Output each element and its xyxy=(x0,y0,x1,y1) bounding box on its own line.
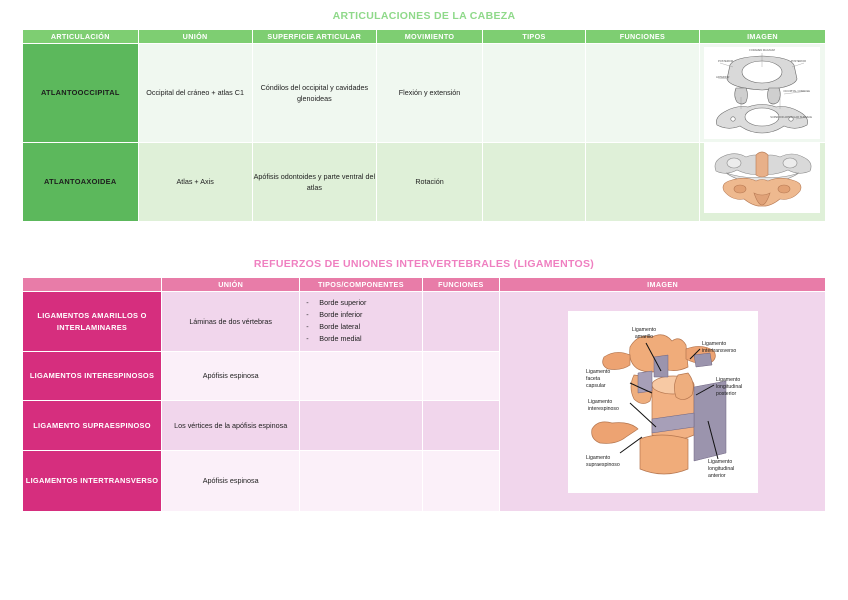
table2-row0-union: Láminas de dos vértebras xyxy=(162,292,299,351)
atlas-axis-illustration xyxy=(704,143,820,213)
bullet-dash: - xyxy=(306,333,311,345)
table1-col-imagen: IMAGEN xyxy=(700,30,825,43)
label-posterior-left: POSTERIOR xyxy=(718,59,733,63)
document-page: ARTICULACIONES DE LA CABEZA ARTICULACIÓN… xyxy=(0,0,848,600)
list-item: -Borde inferior xyxy=(306,309,421,321)
table2-col-blank xyxy=(23,278,161,291)
bullet-dash: - xyxy=(306,309,311,321)
label-posterior-right: POSTERIOR xyxy=(791,59,806,63)
list-item: -Borde superior xyxy=(306,297,421,309)
skull-atlas-svg: FORAMEN MAGNUM POSTERIOR POSTERIOR ANTER… xyxy=(704,47,820,139)
tipos-bullet-list: -Borde superior -Borde inferior -Borde l… xyxy=(300,297,421,345)
table1-col-funciones: FUNCIONES xyxy=(586,30,699,43)
label-foramen-magnum: FORAMEN MAGNUM xyxy=(750,48,776,52)
label-ligamento-amarillo: Ligamentoamarillo xyxy=(631,327,655,340)
table2-row3-label: LIGAMENTOS INTERTRANSVERSO xyxy=(23,451,161,511)
table1-row0-union: Occipital del cráneo + atlas C1 xyxy=(139,44,252,142)
table1-col-union: UNIÓN xyxy=(139,30,252,43)
list-item: -Borde lateral xyxy=(306,321,421,333)
section-articulaciones-cabeza: ARTICULACIONES DE LA CABEZA ARTICULACIÓN… xyxy=(22,10,826,222)
label-occipital-condyle: OCCIPITAL CONDYLE xyxy=(784,89,811,93)
table2-header-row: UNIÓN TIPOS/COMPONENTES FUNCIONES IMAGEN xyxy=(23,278,825,291)
table1-row1-movimiento: Rotación xyxy=(377,143,482,221)
table1-col-movimiento: MOVIMIENTO xyxy=(377,30,482,43)
table2-row0-funciones xyxy=(423,292,500,351)
table-articulaciones-cabeza: ARTICULACIÓN UNIÓN SUPERFICIE ARTICULAR … xyxy=(22,29,826,222)
table1-col-tipos: TIPOS xyxy=(483,30,585,43)
table1-row1-union: Atlas + Axis xyxy=(139,143,252,221)
table2-imagen-cell: Ligamentoamarillo Ligamentointertransver… xyxy=(500,292,825,511)
table2-row0-label: LIGAMENTOS AMARILLOS O INTERLAMINARES xyxy=(23,292,161,351)
table1-col-superficie-articular: SUPERFICIE ARTICULAR xyxy=(253,30,376,43)
table1-row0-label: ATLANTOOCCIPITAL xyxy=(23,44,138,142)
table2-row1-funciones xyxy=(423,352,500,400)
table1-row0-imagen-cell: FORAMEN MAGNUM POSTERIOR POSTERIOR ANTER… xyxy=(700,44,825,142)
table2-row2-label: LIGAMENTO SUPRAESPINOSO xyxy=(23,401,161,450)
table2-row1-tipos xyxy=(300,352,421,400)
table1-row0-superficie: Cóndilos del occipital y cavidades gleno… xyxy=(253,44,376,142)
bullet-text: Borde superior xyxy=(319,297,366,309)
table2-col-tipos-componentes: TIPOS/COMPONENTES xyxy=(300,278,421,291)
table1-col-articulacion: ARTICULACIÓN xyxy=(23,30,138,43)
skull-atlas-diagram: FORAMEN MAGNUM POSTERIOR POSTERIOR ANTER… xyxy=(704,47,820,139)
table1-row1-imagen-cell xyxy=(700,143,825,221)
table1-title: ARTICULACIONES DE LA CABEZA xyxy=(22,10,826,22)
ligaments-illustration: Ligamentoamarillo Ligamentointertransver… xyxy=(568,311,758,493)
table2-row1-union: Apófisis espinosa xyxy=(162,352,299,400)
table1-row0-movimiento: Flexión y extensión xyxy=(377,44,482,142)
section-refuerzos-uniones: REFUERZOS DE UNIONES INTERVERTEBRALES (L… xyxy=(22,258,826,512)
bullet-text: Borde lateral xyxy=(319,321,360,333)
label-superior-articular-surface: SUPERIOR ARTICULAR SURFACE xyxy=(771,115,813,119)
bullet-text: Borde medial xyxy=(319,333,361,345)
table2-row2-union: Los vértices de la apófisis espinosa xyxy=(162,401,299,450)
bullet-text: Borde inferior xyxy=(319,309,362,321)
table-refuerzos-uniones: UNIÓN TIPOS/COMPONENTES FUNCIONES IMAGEN… xyxy=(22,277,826,512)
table2-row3-funciones xyxy=(423,451,500,511)
table1-row1-superficie: Apófisis odontoides y parte ventral del … xyxy=(253,143,376,221)
bullet-dash: - xyxy=(306,321,311,333)
table2-row2-tipos xyxy=(300,401,421,450)
table2-row1-label: LIGAMENTOS INTERESPINOSOS xyxy=(23,352,161,400)
table1-header-row: ARTICULACIÓN UNIÓN SUPERFICIE ARTICULAR … xyxy=(23,30,825,43)
list-item: -Borde medial xyxy=(306,333,421,345)
table-row: ATLANTOOCCIPITAL Occipital del cráneo + … xyxy=(23,44,825,142)
table2-row2-funciones xyxy=(423,401,500,450)
table-row: ATLANTOAXOIDEA Atlas + Axis Apófisis odo… xyxy=(23,143,825,221)
table2-col-funciones: FUNCIONES xyxy=(423,278,500,291)
table2-col-union: UNIÓN xyxy=(162,278,299,291)
table2-col-imagen: IMAGEN xyxy=(500,278,825,291)
table1-row0-tipos xyxy=(483,44,585,142)
bullet-dash: - xyxy=(306,297,311,309)
table2-row3-union: Apófisis espinosa xyxy=(162,451,299,511)
atlas-axis-svg xyxy=(704,143,820,213)
table1-row1-tipos xyxy=(483,143,585,221)
table1-row0-funciones xyxy=(586,44,699,142)
ligaments-svg: Ligamentoamarillo Ligamentointertransver… xyxy=(568,311,758,493)
table1-row1-label: ATLANTOAXOIDEA xyxy=(23,143,138,221)
label-anterior: ANTERIOR xyxy=(716,75,730,79)
table-row: LIGAMENTOS AMARILLOS O INTERLAMINARES Lá… xyxy=(23,292,825,351)
table2-title: REFUERZOS DE UNIONES INTERVERTEBRALES (L… xyxy=(22,258,826,270)
table2-row3-tipos xyxy=(300,451,421,511)
table2-row0-tipos: -Borde superior -Borde inferior -Borde l… xyxy=(300,292,421,351)
table1-row1-funciones xyxy=(586,143,699,221)
